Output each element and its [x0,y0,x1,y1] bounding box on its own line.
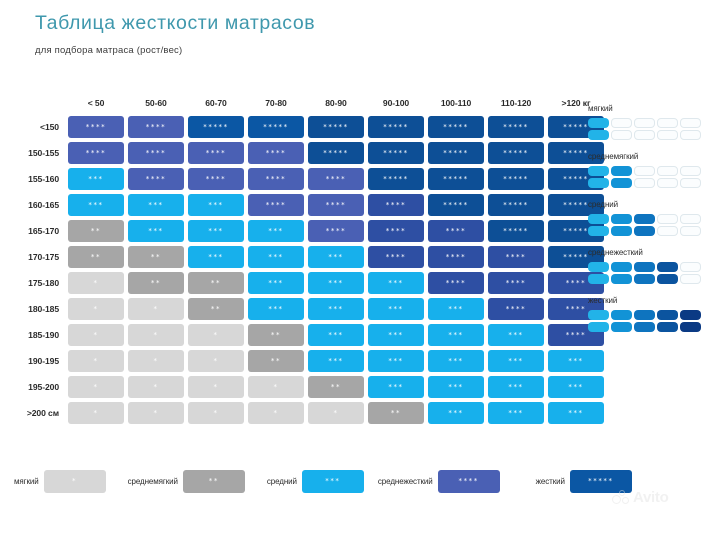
row-header: 150-155 [12,141,65,165]
table-cell[interactable]: ** [247,323,305,347]
legend-key-swatch: * [44,470,106,493]
table-cell[interactable]: ***** [187,115,245,139]
cell-hardness-stars: *** [328,280,343,287]
cell-hardness-stars: *** [448,332,463,339]
table-cell[interactable]: **** [187,141,245,165]
cell-hardness-stars: * [273,384,278,391]
cell-hardness-stars: **** [386,254,406,261]
cell-hardness-stars: ***** [503,228,529,235]
table-cell[interactable]: **** [127,115,185,139]
table-cell[interactable]: * [67,401,125,425]
column-header: 60-70 [187,98,245,113]
legend-key-stars: *** [325,478,340,485]
legend-pill [588,274,609,284]
table-cell[interactable]: ***** [487,219,545,243]
table-row: 165-170********************************* [12,219,605,243]
table-cell[interactable]: *** [307,271,365,295]
legend-key-stars: **** [458,478,478,485]
table-cell[interactable]: *** [487,375,545,399]
cell-hardness-stars: *** [328,358,343,365]
table-cell[interactable]: * [187,349,245,373]
table-cell[interactable]: * [67,349,125,373]
table-cell[interactable]: * [247,375,305,399]
column-header: 110-120 [487,98,545,113]
table-cell[interactable]: ** [127,271,185,295]
cell-hardness-stars: **** [566,332,586,339]
cell-hardness-stars: *** [328,254,343,261]
legend-pill [680,310,701,320]
cell-hardness-stars: *** [388,332,403,339]
cell-hardness-stars: ***** [203,124,229,131]
legend-key-label: среднежесткий [378,477,433,486]
table-cell[interactable]: * [247,401,305,425]
legend-key-stars: ***** [588,478,614,485]
legend-pill [657,322,678,332]
cell-hardness-stars: **** [326,176,346,183]
legend-pill-row [588,262,713,272]
cell-hardness-stars: *** [328,306,343,313]
table-cell[interactable]: * [127,401,185,425]
table-cell[interactable]: **** [487,245,545,269]
cell-hardness-stars: **** [506,254,526,261]
row-header: >200 см [12,401,65,425]
legend-key-stars: ** [209,478,219,485]
cell-hardness-stars: ** [211,306,221,313]
cell-hardness-stars: * [213,358,218,365]
legend-key-label: мягкий [14,477,39,486]
legend-pill [634,166,655,176]
cell-hardness-stars: ***** [503,150,529,157]
table-cell[interactable]: **** [367,193,425,217]
table-body: <150************************************… [12,115,605,425]
cell-hardness-stars: * [93,280,98,287]
cell-hardness-stars: *** [568,358,583,365]
legend-pill [634,118,655,128]
cell-hardness-stars: *** [88,202,103,209]
column-header: 100-110 [427,98,485,113]
table-cell[interactable]: *** [307,323,365,347]
legend-pill [634,226,655,236]
legend-pill [634,310,655,320]
table-row: 160-165*********************************… [12,193,605,217]
cell-hardness-stars: * [333,410,338,417]
legend-pill [588,130,609,140]
cell-hardness-stars: ** [91,228,101,235]
cell-hardness-stars: ** [331,384,341,391]
table-cell[interactable]: * [127,349,185,373]
legend-pill [588,226,609,236]
table-row: <150************************************… [12,115,605,139]
cell-hardness-stars: *** [208,202,223,209]
table-cell[interactable]: **** [247,167,305,191]
cell-hardness-stars: **** [266,176,286,183]
table-cell[interactable]: * [127,375,185,399]
table-cell[interactable]: *** [367,375,425,399]
cell-hardness-stars: * [93,358,98,365]
cell-hardness-stars: ***** [563,254,589,261]
legend-group: средний [588,200,713,236]
legend-group-label: среднемягкий [588,152,713,161]
table-cell[interactable]: ***** [427,167,485,191]
table-cell[interactable]: *** [367,271,425,295]
cell-hardness-stars: *** [508,358,523,365]
table-cell[interactable]: ***** [247,115,305,139]
legend-pill-row [588,166,713,176]
table-row: 190-195******************** [12,349,605,373]
cell-hardness-stars: * [93,306,98,313]
column-header: 70-80 [247,98,305,113]
legend-pill-row [588,226,713,236]
row-header: 165-170 [12,219,65,243]
legend-pill [657,178,678,188]
cell-hardness-stars: **** [146,150,166,157]
legend-pill-row [588,118,713,128]
cell-hardness-stars: ***** [563,124,589,131]
cell-hardness-stars: **** [506,280,526,287]
table-cell[interactable]: *** [187,193,245,217]
row-header: 160-165 [12,193,65,217]
cell-hardness-stars: *** [268,228,283,235]
legend-pill [588,310,609,320]
table-cell[interactable]: ** [127,245,185,269]
legend-pill [634,322,655,332]
cell-hardness-stars: * [93,384,98,391]
cell-hardness-stars: *** [208,254,223,261]
column-header: 80-90 [307,98,365,113]
cell-hardness-stars: **** [266,202,286,209]
cell-hardness-stars: ***** [563,228,589,235]
table-row: 175-180************************** [12,271,605,295]
cell-hardness-stars: ***** [323,150,349,157]
table-cell[interactable]: *** [487,349,545,373]
cell-hardness-stars: ***** [323,124,349,131]
cell-hardness-stars: *** [448,410,463,417]
table-cell[interactable]: ** [187,271,245,295]
cell-hardness-stars: *** [568,384,583,391]
table-cell[interactable]: **** [487,297,545,321]
table-cell[interactable]: * [127,297,185,321]
table-cell[interactable]: *** [547,375,605,399]
cell-hardness-stars: *** [268,306,283,313]
table-cell[interactable]: *** [187,219,245,243]
column-header: 50-60 [127,98,185,113]
legend-pill [588,322,609,332]
table-cell[interactable]: **** [247,193,305,217]
table-cell[interactable]: **** [427,271,485,295]
cell-hardness-stars: ***** [443,124,469,131]
table-cell[interactable]: *** [547,349,605,373]
legend-pill [588,178,609,188]
cell-hardness-stars: * [153,410,158,417]
legend-pill [680,322,701,332]
table-cell[interactable]: *** [247,245,305,269]
legend-pill [680,130,701,140]
table-row: 150-155*********************************… [12,141,605,165]
legend-pill [588,262,609,272]
cell-hardness-stars: *** [388,280,403,287]
legend-pill [657,274,678,284]
table-cell[interactable]: * [307,401,365,425]
cell-hardness-stars: * [153,332,158,339]
table-cell[interactable]: ***** [367,141,425,165]
legend-pill [611,262,632,272]
table-cell[interactable]: *** [487,401,545,425]
table-cell[interactable]: **** [307,167,365,191]
legend-key-swatch: *** [302,470,364,493]
table-head: < 5050-6060-7070-8080-9090-100100-110110… [12,98,605,113]
table-cell[interactable]: * [67,297,125,321]
cell-hardness-stars: ***** [563,150,589,157]
legend-pill [588,214,609,224]
row-header: 195-200 [12,375,65,399]
legend-pill [680,178,701,188]
table-cell[interactable]: **** [247,141,305,165]
table-cell[interactable]: **** [367,219,425,243]
cell-hardness-stars: * [153,358,158,365]
cell-hardness-stars: * [153,384,158,391]
table-cell[interactable]: *** [247,219,305,243]
cell-hardness-stars: **** [206,176,226,183]
row-header: 155-160 [12,167,65,191]
cell-hardness-stars: ** [271,358,281,365]
table-cell[interactable]: *** [127,193,185,217]
row-header: 190-195 [12,349,65,373]
cell-hardness-stars: *** [448,358,463,365]
legend-pill [611,310,632,320]
table-cell[interactable]: * [187,323,245,347]
cell-hardness-stars: ** [391,410,401,417]
table-cell[interactable]: *** [127,219,185,243]
cell-hardness-stars: ***** [503,124,529,131]
table-cell[interactable]: *** [187,245,245,269]
cell-hardness-stars: ***** [263,124,289,131]
legend-pill [657,310,678,320]
table-cell[interactable]: **** [367,245,425,269]
table-cell[interactable]: ***** [487,115,545,139]
table-cell[interactable]: ***** [427,141,485,165]
avito-watermark: Avito [612,489,668,506]
table-row: 170-175****************************** [12,245,605,269]
table-cell[interactable]: *** [367,349,425,373]
cell-hardness-stars: *** [388,306,403,313]
cell-hardness-stars: *** [268,280,283,287]
legend-pill [588,166,609,176]
avito-logo-icon [612,490,629,505]
legend-group: среднемягкий [588,152,713,188]
table-cell[interactable]: ** [367,401,425,425]
cell-hardness-stars: * [273,410,278,417]
table-cell[interactable]: * [187,401,245,425]
table-cell[interactable]: ***** [307,115,365,139]
legend-pill [680,166,701,176]
cell-hardness-stars: *** [148,202,163,209]
legend-key-label: жесткий [536,477,565,486]
cell-hardness-stars: **** [326,228,346,235]
table-cell[interactable]: ***** [487,141,545,165]
cell-hardness-stars: **** [506,306,526,313]
table-cell[interactable]: ***** [427,115,485,139]
row-header: 170-175 [12,245,65,269]
legend-key-swatch: ** [183,470,245,493]
cell-hardness-stars: **** [146,124,166,131]
legend-pill [657,214,678,224]
legend-pill [611,214,632,224]
table-cell[interactable]: ** [307,375,365,399]
table-cell[interactable]: ** [247,349,305,373]
cell-hardness-stars: **** [446,280,466,287]
table-cell[interactable]: *** [247,271,305,295]
cell-hardness-stars: *** [508,410,523,417]
cell-hardness-stars: *** [448,306,463,313]
cell-hardness-stars: * [93,410,98,417]
row-header: 175-180 [12,271,65,295]
legend-key-stars: * [72,478,77,485]
legend-group-label: жесткий [588,296,713,305]
legend-pill-row [588,274,713,284]
table-cell[interactable]: * [67,375,125,399]
table-cell[interactable]: * [67,271,125,295]
table-cell[interactable]: *** [367,297,425,321]
table-row: >200 см**************** [12,401,605,425]
cell-hardness-stars: ***** [563,176,589,183]
cell-hardness-stars: *** [388,384,403,391]
table-cell[interactable]: * [127,323,185,347]
cell-hardness-stars: **** [86,124,106,131]
table-row: 195-200****************** [12,375,605,399]
legend-key-item: среднемягкий** [128,470,245,493]
cell-hardness-stars: ***** [383,176,409,183]
table-cell[interactable]: **** [187,167,245,191]
table-cell[interactable]: **** [67,141,125,165]
table-cell[interactable]: *** [427,375,485,399]
cell-hardness-stars: *** [388,358,403,365]
cell-hardness-stars: **** [146,176,166,183]
cell-hardness-stars: ** [151,280,161,287]
table-header-row: < 5050-6060-7070-8080-9090-100100-110110… [12,98,605,113]
legend-pill [680,214,701,224]
cell-hardness-stars: **** [566,306,586,313]
legend-pill [634,178,655,188]
table-cell[interactable]: *** [487,323,545,347]
page-subtitle: для подбора матраса (рост/вес) [35,45,315,56]
table-cell[interactable]: **** [427,219,485,243]
table-cell[interactable]: ** [187,297,245,321]
table-cell[interactable]: **** [127,141,185,165]
cell-hardness-stars: **** [446,228,466,235]
cell-hardness-stars: **** [446,254,466,261]
cell-hardness-stars: ***** [383,124,409,131]
table-cell[interactable]: ***** [307,141,365,165]
legend-pill [680,274,701,284]
legend-pill [657,262,678,272]
cell-hardness-stars: * [213,384,218,391]
table-cell[interactable]: ***** [487,167,545,191]
cell-hardness-stars: *** [208,228,223,235]
cell-hardness-stars: *** [508,384,523,391]
table-cell[interactable]: *** [307,297,365,321]
cell-hardness-stars: **** [86,150,106,157]
cell-hardness-stars: *** [328,332,343,339]
hardness-scale-legend: мягкийсреднемягкийсреднийсреднежесткийже… [588,104,713,344]
legend-group-label: мягкий [588,104,713,113]
table-cell[interactable]: ** [67,245,125,269]
cell-hardness-stars: **** [386,202,406,209]
cell-hardness-stars: ** [91,254,101,261]
cell-hardness-stars: *** [268,254,283,261]
table-cell[interactable]: ***** [367,167,425,191]
legend-pill [611,274,632,284]
table-cell[interactable]: *** [67,167,125,191]
legend-pill [611,130,632,140]
table-cell[interactable]: *** [427,349,485,373]
cell-hardness-stars: **** [206,150,226,157]
table-row: 180-185************************ [12,297,605,321]
watermark-label: Avito [633,489,668,506]
table-cell[interactable]: *** [67,193,125,217]
legend-pill [588,118,609,128]
legend-group: жесткий [588,296,713,332]
table-cell[interactable]: *** [547,401,605,425]
table-cell[interactable]: **** [487,271,545,295]
table-cell[interactable]: *** [247,297,305,321]
legend-pill [657,166,678,176]
table-cell[interactable]: *** [427,297,485,321]
row-header: 180-185 [12,297,65,321]
table-cell[interactable]: ** [67,219,125,243]
legend-pill-row [588,178,713,188]
table-cell[interactable]: ***** [367,115,425,139]
table-cell[interactable]: **** [67,115,125,139]
cell-hardness-stars: ***** [443,202,469,209]
legend-pill [634,130,655,140]
table-corner-cell [12,98,65,113]
column-header: < 50 [67,98,125,113]
table-cell[interactable]: *** [307,245,365,269]
cell-hardness-stars: * [213,410,218,417]
table-cell[interactable]: * [187,375,245,399]
legend-pill [611,118,632,128]
legend-pill [657,118,678,128]
legend-pill [611,166,632,176]
legend-pill [611,226,632,236]
table-cell[interactable]: *** [427,401,485,425]
legend-key-label: среднемягкий [128,477,178,486]
legend-pill-row [588,322,713,332]
cell-hardness-stars: *** [508,332,523,339]
cell-hardness-stars: **** [566,280,586,287]
table-cell[interactable]: *** [367,323,425,347]
legend-pill-row [588,310,713,320]
cell-hardness-stars: ** [151,254,161,261]
legend-pill [634,274,655,284]
table-cell[interactable]: ***** [487,193,545,217]
cell-hardness-stars: *** [148,228,163,235]
hardness-table-wrapper: < 5050-6060-7070-8080-9090-100100-110110… [10,96,607,427]
cell-hardness-stars: ***** [563,202,589,209]
table-cell[interactable]: *** [307,349,365,373]
table-cell[interactable]: **** [307,219,365,243]
table-cell[interactable]: **** [427,245,485,269]
legend-group: среднежесткий [588,248,713,284]
table-cell[interactable]: **** [127,167,185,191]
table-cell[interactable]: **** [307,193,365,217]
table-cell[interactable]: * [67,323,125,347]
table-cell[interactable]: ***** [427,193,485,217]
legend-pill-row [588,130,713,140]
legend-pill [611,178,632,188]
legend-pill [680,226,701,236]
table-cell[interactable]: *** [427,323,485,347]
